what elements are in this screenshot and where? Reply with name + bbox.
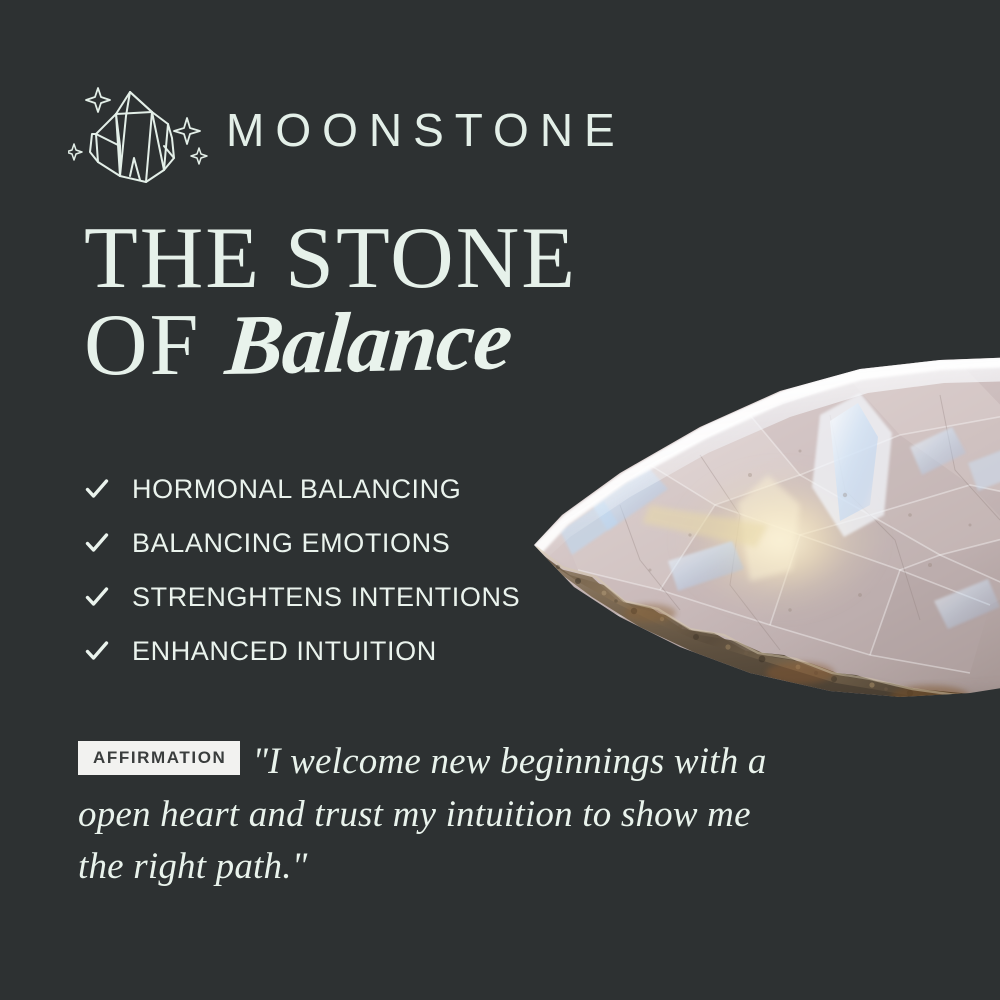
headline-line-1: THE STONE: [84, 218, 704, 301]
benefit-label: HORMONAL BALANCING: [132, 474, 461, 505]
list-item: STRENGHTENS INTENTIONS: [84, 570, 554, 624]
list-item: BALANCING EMOTIONS: [84, 516, 554, 570]
list-item: HORMONAL BALANCING: [84, 462, 554, 516]
brand-name: MOONSTONE: [226, 107, 626, 153]
check-icon: [84, 638, 110, 664]
check-icon: [84, 530, 110, 556]
headline-line-2: OF Balance: [84, 305, 704, 388]
page-title: THE STONE OF Balance: [84, 218, 704, 387]
list-item: ENHANCED INTUITION: [84, 624, 554, 678]
headline-script-word: Balance: [223, 301, 515, 384]
moonstone-info-card: MOONSTONE THE STONE OF Balance HORMONAL …: [0, 0, 1000, 1000]
benefits-list: HORMONAL BALANCING BALANCING EMOTIONS ST…: [84, 462, 554, 678]
check-icon: [84, 584, 110, 610]
benefit-label: ENHANCED INTUITION: [132, 636, 437, 667]
status-badge: AFFIRMATION: [78, 741, 240, 775]
moonstone-specimen-photo: [500, 355, 1000, 730]
crystal-cluster-icon: [68, 72, 208, 188]
benefit-label: BALANCING EMOTIONS: [132, 528, 450, 559]
check-icon: [84, 476, 110, 502]
benefit-label: STRENGHTENS INTENTIONS: [132, 582, 520, 613]
brand-header: MOONSTONE: [68, 72, 626, 188]
headline-of: OF: [84, 305, 201, 388]
affirmation-section: AFFIRMATION"I welcome new beginnings wit…: [78, 736, 778, 894]
